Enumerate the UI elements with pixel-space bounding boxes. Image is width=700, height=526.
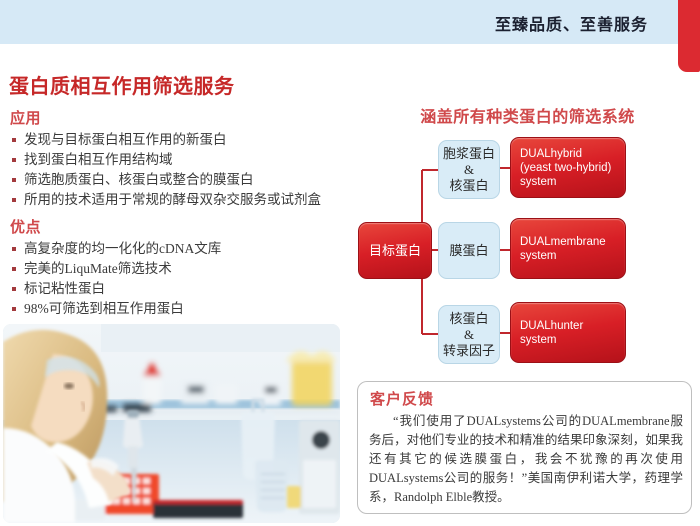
list-item: 所用的技术适用于常规的酵母双杂交服务或试剂盒 [10,190,321,210]
node-label: DUALhybrid (yeast two-hybrid) system [511,147,611,189]
node-label: DUALmembrane system [511,235,606,263]
advantages-list: 高复杂度的均一化化的cDNA文库 完美的LiquMate筛选技术 标记粘性蛋白 … [10,239,221,319]
customer-feedback-title: 客户反馈 [370,388,434,409]
node-label-line: 核蛋白 [449,178,488,193]
node-label: 目标蛋白 [359,243,431,259]
list-item: 找到蛋白相互作用结构域 [10,150,321,170]
node-label-line: DUALmembrane [520,236,606,248]
node-label-line: 膜蛋白 [449,243,488,258]
list-item-label: 高复杂度的均一化化的cDNA文库 [24,241,221,256]
node-label-line: 核蛋白 [449,311,488,326]
diagram-title: 涵盖所有种类蛋白的筛选系统 [355,103,700,127]
lab-photo [3,324,340,523]
bullet-square-icon [12,138,16,142]
node-label: 膜蛋白 [439,243,499,259]
list-item-label: 找到蛋白相互作用结构域 [24,152,173,167]
bullet-square-icon [12,198,16,202]
list-item: 98%可筛选到相互作用蛋白 [10,299,221,319]
bullet-square-icon [12,287,16,291]
node-label-line: 胞浆蛋白 [443,146,495,161]
bullet-square-icon [12,267,16,271]
list-item: 完美的LiquMate筛选技术 [10,259,221,279]
list-item: 发现与目标蛋白相互作用的新蛋白 [10,130,321,150]
header-accent-tab [678,0,700,72]
header-slogan: 至臻品质、至善服务 [495,11,648,35]
diagram-node-system-dualhybrid[interactable]: DUALhybrid (yeast two-hybrid) system [510,137,626,198]
diagram-node-system-dualhunter[interactable]: DUALhunter system [510,302,626,363]
node-label-line: system [520,334,556,346]
node-label-line: (yeast two-hybrid) [520,162,611,174]
customer-feedback-box: 客户反馈 “我们使用了DUALsystems公司的DUALmembrane服务后… [357,381,692,514]
section-heading-applications: 应用 [10,107,41,128]
node-label-line: & [464,327,474,342]
node-label-line: system [520,250,556,262]
list-item-label: 98%可筛选到相互作用蛋白 [24,301,184,316]
bullet-square-icon [12,247,16,251]
customer-feedback-quote: “我们使用了DUALsystems公司的DUALmembrane服务后，对他们专… [369,412,683,507]
diagram-node-category-cytosolic-nuclear[interactable]: 胞浆蛋白 & 核蛋白 [438,140,500,199]
section-heading-advantages: 优点 [10,216,41,237]
bullet-square-icon [12,158,16,162]
node-label-line: 转录因子 [443,343,495,358]
diagram-node-system-dualmembrane[interactable]: DUALmembrane system [510,218,626,279]
node-label-line: & [464,162,474,177]
list-item-label: 标记粘性蛋白 [24,281,105,296]
node-label-line: DUALhybrid [520,148,582,160]
list-item: 高复杂度的均一化化的cDNA文库 [10,239,221,259]
bullet-square-icon [12,307,16,311]
list-item-label: 完美的LiquMate筛选技术 [24,261,172,276]
node-label-line: DUALhunter [520,320,583,332]
node-label: 胞浆蛋白 & 核蛋白 [439,146,499,194]
list-item-label: 筛选胞质蛋白、核蛋白或整合的膜蛋白 [24,172,254,187]
diagram-node-target-protein[interactable]: 目标蛋白 [358,222,432,279]
list-item: 筛选胞质蛋白、核蛋白或整合的膜蛋白 [10,170,321,190]
page-title: 蛋白质相互作用筛选服务 [9,70,235,99]
node-label: DUALhunter system [511,319,583,347]
node-label: 核蛋白 & 转录因子 [439,311,499,359]
list-item-label: 发现与目标蛋白相互作用的新蛋白 [24,132,227,147]
bullet-square-icon [12,178,16,182]
node-label-line: system [520,176,556,188]
screening-systems-diagram: 目标蛋白 胞浆蛋白 & 核蛋白 膜蛋白 核蛋白 & 转录因子 DUALhybri… [355,130,700,375]
list-item-label: 所用的技术适用于常规的酵母双杂交服务或试剂盒 [24,192,321,207]
diagram-node-category-nuclear-tf[interactable]: 核蛋白 & 转录因子 [438,305,500,364]
list-item: 标记粘性蛋白 [10,279,221,299]
applications-list: 发现与目标蛋白相互作用的新蛋白 找到蛋白相互作用结构域 筛选胞质蛋白、核蛋白或整… [10,130,321,210]
diagram-node-category-membrane[interactable]: 膜蛋白 [438,222,500,279]
